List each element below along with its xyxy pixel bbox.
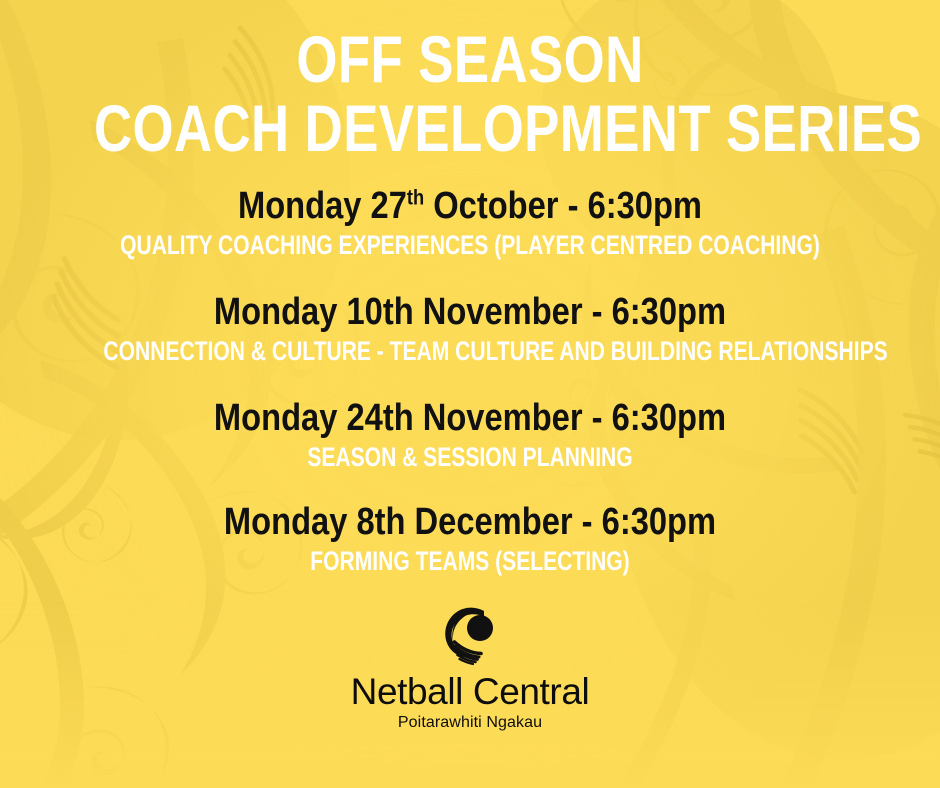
session-date-prefix: Monday 27 <box>238 185 407 227</box>
session-date: Monday 24th November - 6:30pm <box>66 399 874 437</box>
session-date: Monday 27th October - 6:30pm <box>66 187 874 225</box>
brand-tagline: Poitarawhiti Ngakau <box>398 714 542 732</box>
session-item: Monday 27th October - 6:30pm QUALITY COA… <box>0 187 940 259</box>
session-item: Monday 10th November - 6:30pm CONNECTION… <box>0 293 940 365</box>
session-topic: SEASON & SESSION PLANNING <box>103 444 836 471</box>
session-date-prefix: Monday 24th November - 6:30pm <box>214 397 726 439</box>
session-date: Monday 10th November - 6:30pm <box>66 293 874 331</box>
session-topic: FORMING TEAMS (SELECTING) <box>103 548 836 575</box>
session-list: Monday 27th October - 6:30pm QUALITY COA… <box>0 187 940 575</box>
session-date-prefix: Monday 8th December - 6:30pm <box>224 501 716 543</box>
page-title-line-1: OFF SEASON <box>94 28 846 91</box>
poster-canvas: OFF SEASON COACH DEVELOPMENT SERIES Mond… <box>0 0 940 788</box>
session-date-suffix: October - 6:30pm <box>424 185 702 227</box>
session-date-ordinal: th <box>407 186 424 210</box>
netball-central-koru-ball-icon <box>438 605 502 667</box>
session-date: Monday 8th December - 6:30pm <box>66 503 874 541</box>
session-topic: QUALITY COACHING EXPERIENCES (PLAYER CEN… <box>103 232 836 259</box>
session-item: Monday 24th November - 6:30pm SEASON & S… <box>0 399 940 471</box>
brand-name: Netball Central <box>351 673 590 712</box>
session-topic: CONNECTION & CULTURE - TEAM CULTURE AND … <box>103 338 836 365</box>
page-title-line-2: COACH DEVELOPMENT SERIES <box>94 97 846 160</box>
session-date-prefix: Monday 10th November - 6:30pm <box>214 291 726 333</box>
session-item: Monday 8th December - 6:30pm FORMING TEA… <box>0 503 940 575</box>
brand-logo: Netball Central Poitarawhiti Ngakau <box>351 605 590 731</box>
